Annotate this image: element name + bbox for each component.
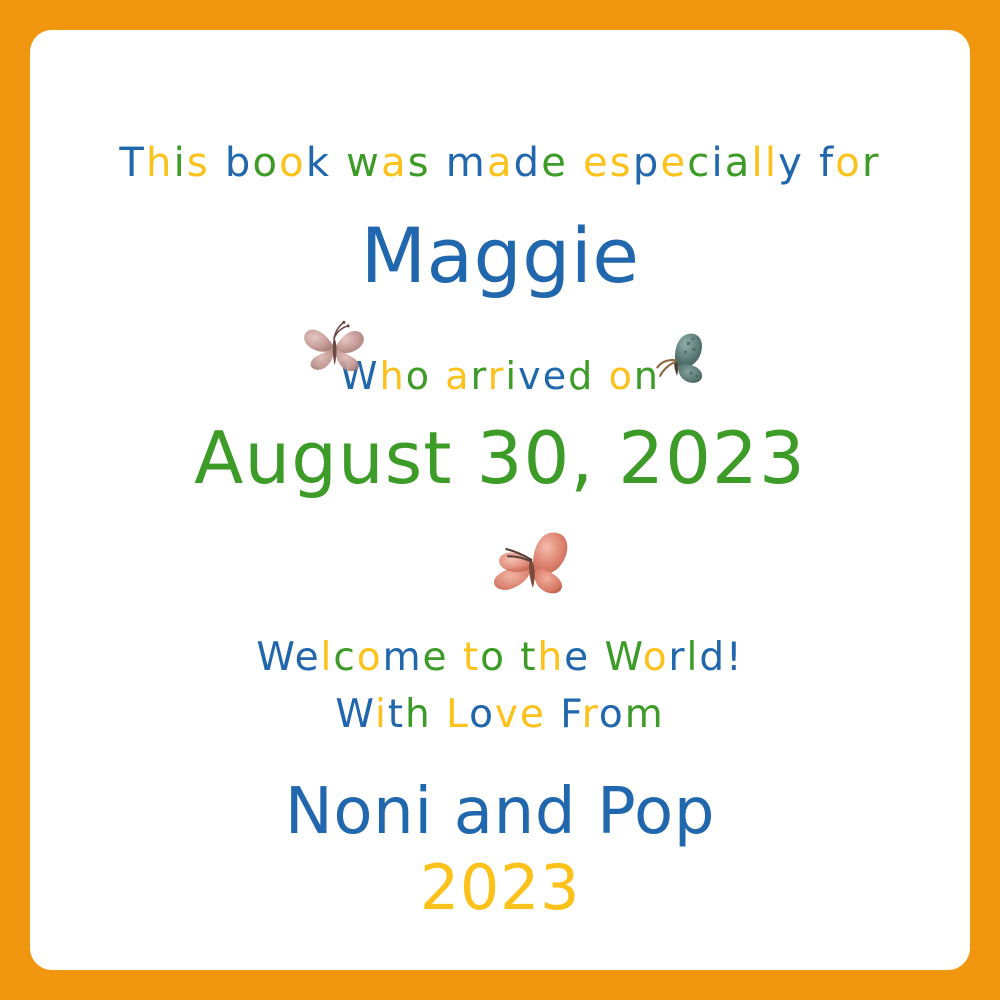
letter: t: [463, 635, 480, 680]
birth-date: August 30, 2023: [30, 422, 970, 494]
letter: f: [819, 140, 835, 186]
letter: F: [560, 692, 582, 737]
letter: T: [119, 140, 146, 186]
letter: e: [564, 635, 590, 680]
arrived-label: Who arrived on: [30, 357, 970, 395]
letter: h: [538, 635, 565, 680]
letter: r: [862, 140, 881, 186]
letter: s: [187, 140, 210, 186]
letter: i: [711, 140, 724, 186]
letter: e: [541, 140, 568, 186]
letter: t: [520, 635, 537, 680]
letter: m: [383, 635, 423, 680]
keepsake-card: This book was made especially for Maggie…: [30, 30, 970, 970]
letter: a: [487, 140, 514, 186]
letter: i: [375, 692, 388, 737]
letter: [448, 635, 462, 680]
signature-year: 2023: [30, 857, 970, 919]
letter: l: [687, 635, 700, 680]
letter: e: [520, 692, 546, 737]
letter: i: [505, 354, 518, 398]
letter: r: [582, 692, 599, 737]
letter: m: [446, 140, 487, 186]
letter: [594, 354, 608, 398]
letter: e: [295, 635, 321, 680]
letter: n: [634, 354, 660, 398]
letter: e: [543, 354, 568, 398]
letter: i: [174, 140, 187, 186]
letter: c: [687, 140, 711, 186]
letter: h: [380, 354, 406, 398]
letter: a: [381, 140, 408, 186]
letter: l: [765, 140, 778, 186]
letter: h: [146, 140, 174, 186]
letter: o: [835, 140, 862, 186]
letter: W: [604, 635, 642, 680]
letter: o: [599, 692, 625, 737]
letter: d: [514, 140, 542, 186]
letter: o: [609, 354, 634, 398]
letter: h: [405, 692, 432, 737]
letter: [804, 140, 819, 186]
letter: [568, 140, 583, 186]
letter: l: [752, 140, 765, 186]
child-name: Maggie: [30, 218, 970, 294]
letter: [210, 140, 225, 186]
letter: o: [406, 354, 431, 398]
letter: v: [518, 354, 543, 398]
letter: e: [660, 140, 687, 186]
letter: s: [408, 140, 431, 186]
letter: e: [423, 635, 449, 680]
letter: o: [279, 140, 306, 186]
with-love-from-line: With Love From: [30, 695, 970, 734]
letter: [431, 140, 446, 186]
letter: r: [669, 635, 687, 680]
letter: k: [306, 140, 331, 186]
letter: r: [471, 354, 488, 398]
letter: e: [583, 140, 610, 186]
signers-name: Noni and Pop: [30, 780, 970, 844]
letter: [331, 140, 346, 186]
letter: d: [699, 635, 726, 680]
letter: o: [252, 140, 279, 186]
letter: [546, 692, 560, 737]
letter: [506, 635, 520, 680]
letter: [432, 692, 446, 737]
letter: L: [446, 692, 469, 737]
letter: t: [388, 692, 405, 737]
letter: o: [469, 692, 495, 737]
letter: v: [495, 692, 520, 737]
letter: [590, 635, 604, 680]
letter: o: [643, 635, 669, 680]
intro-line: This book was made especially for: [30, 143, 970, 183]
letter: r: [488, 354, 506, 398]
letter: m: [625, 692, 665, 737]
letter: a: [445, 354, 470, 398]
letter: o: [480, 635, 506, 680]
message-stack: This book was made especially for Maggie…: [30, 30, 970, 970]
letter: a: [725, 140, 752, 186]
letter: s: [610, 140, 633, 186]
letter: p: [633, 140, 661, 186]
letter: o: [357, 635, 383, 680]
letter: d: [568, 354, 594, 398]
letter: [431, 354, 445, 398]
welcome-line: Welcome to the World!: [30, 638, 970, 677]
letter: l: [321, 635, 334, 680]
letter: w: [346, 140, 381, 186]
letter: W: [340, 354, 380, 398]
letter: !: [726, 635, 744, 680]
letter: W: [335, 692, 375, 737]
letter: c: [333, 635, 356, 680]
letter: y: [778, 140, 804, 186]
letter: W: [256, 635, 294, 680]
keepsake-page: This book was made especially for Maggie…: [0, 0, 1000, 1000]
letter: b: [225, 140, 253, 186]
